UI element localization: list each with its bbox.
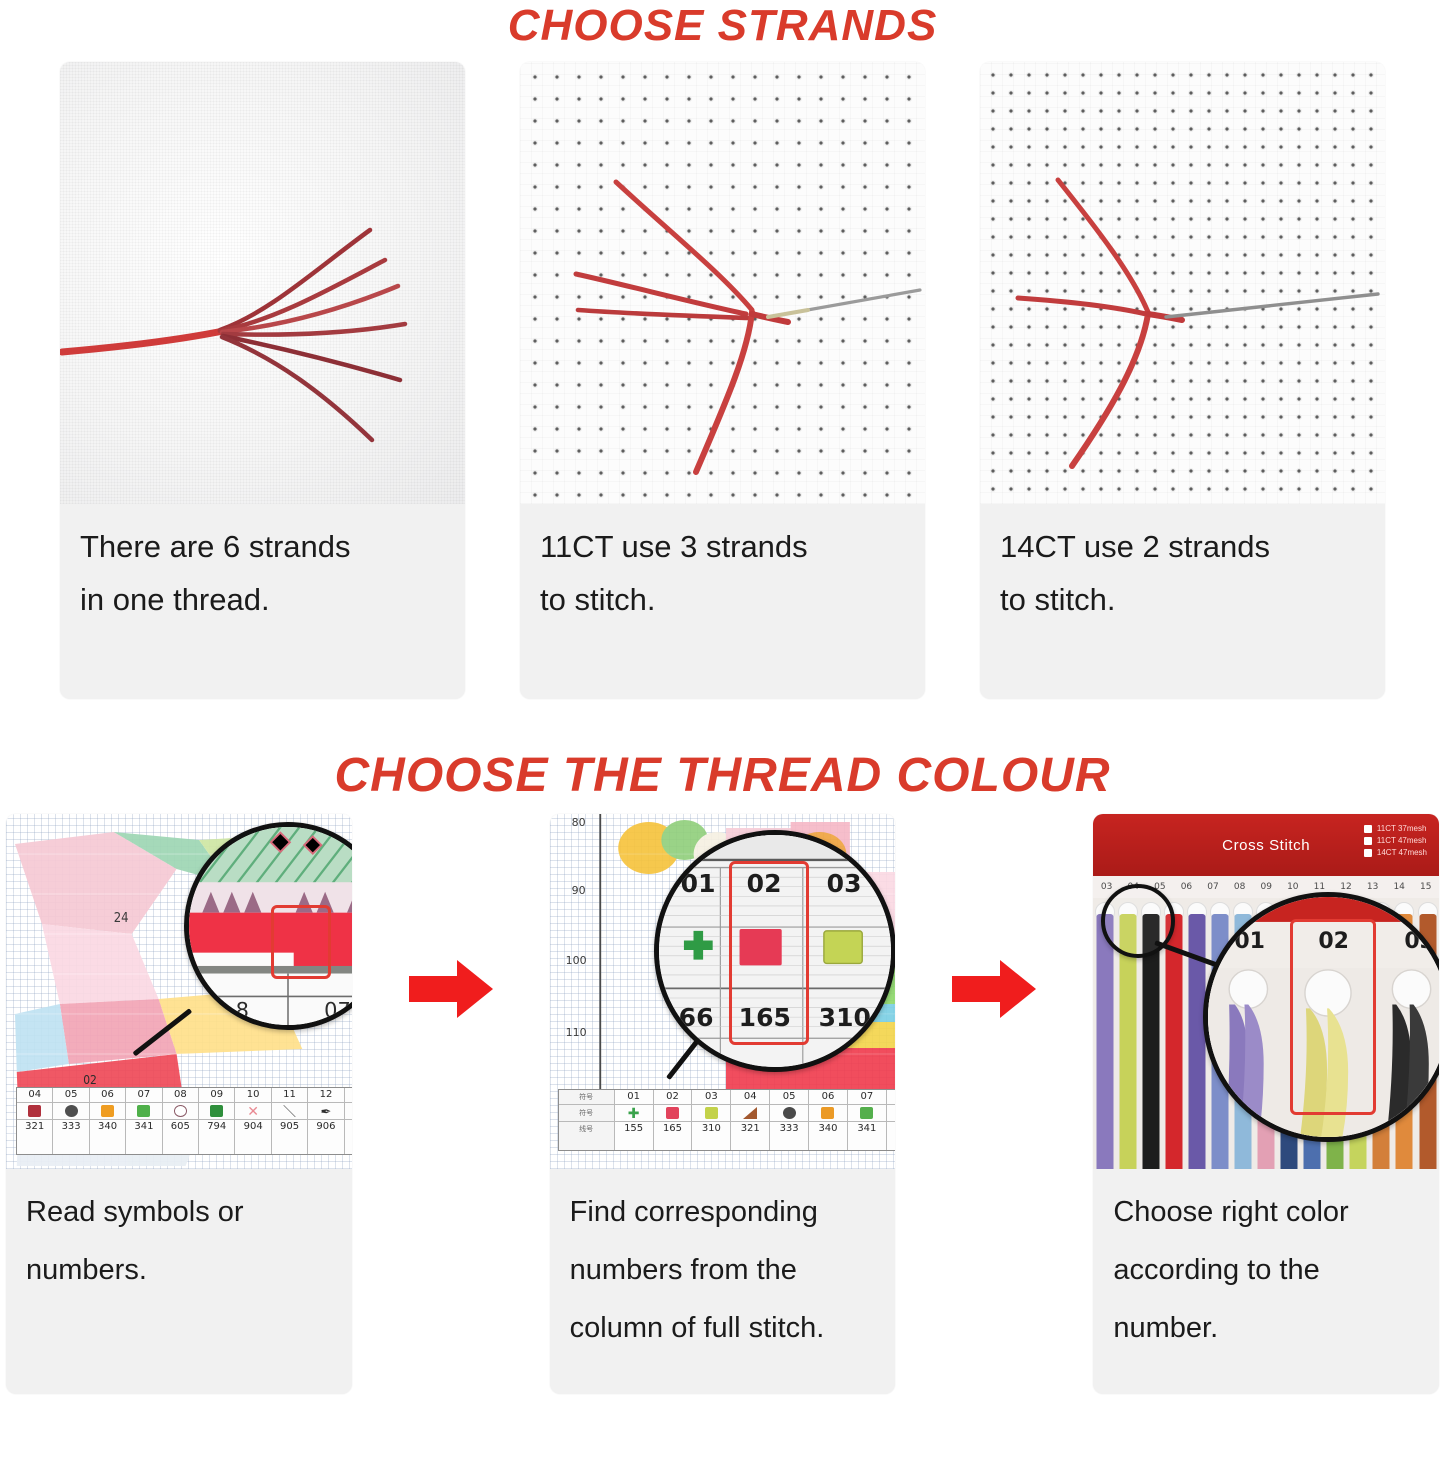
legend-code: 165 xyxy=(654,1121,692,1136)
legend-symbol xyxy=(163,1102,198,1119)
legend-symbol xyxy=(654,1104,692,1121)
checkbox-icon xyxy=(1364,825,1372,833)
six-strands-photo xyxy=(60,62,465,504)
caption-11ct: 11CT use 3 strands to stitch. xyxy=(520,504,925,699)
legend-symbol xyxy=(126,1102,161,1119)
legend-column: 04321 xyxy=(731,1090,770,1150)
legend-symbol xyxy=(848,1104,886,1121)
organizer-number: 14 xyxy=(1386,876,1413,898)
magnifier-highlight-box xyxy=(729,861,809,1045)
card-find-numbers: 80 90 100 110 符号 符号 线号 01✚155 02165 0331… xyxy=(550,814,896,1394)
legend-symbol xyxy=(770,1104,808,1121)
svg-text:02: 02 xyxy=(83,1072,97,1087)
chart-row-label: 90 xyxy=(572,884,586,897)
chart-row-label: 110 xyxy=(566,1026,587,1039)
legend-symbol: ✕ xyxy=(235,1102,270,1119)
checkbox-icon xyxy=(1364,837,1372,845)
organizer-legend-label: 11CT 47mesh xyxy=(1377,836,1427,845)
legend-column: 07341 xyxy=(126,1088,162,1154)
legend-code: 155 xyxy=(615,1121,653,1136)
arrow-1 xyxy=(407,956,495,1022)
organizer-title: Cross Stitch xyxy=(1222,837,1310,854)
caption-line: to stitch. xyxy=(540,573,905,626)
two-strands-needle-illustration xyxy=(980,62,1385,504)
legend-code: 341 xyxy=(126,1119,161,1134)
legend-number: 03 xyxy=(705,1090,718,1104)
svg-text:8: 8 xyxy=(236,998,249,1022)
caption-line: Choose right color xyxy=(1113,1183,1419,1241)
legend-symbol: Λ xyxy=(345,1102,352,1119)
legend-code: 906 xyxy=(308,1119,343,1134)
organizer-number: 09 xyxy=(1253,876,1280,898)
legend-code: 904 xyxy=(235,1119,270,1134)
right-arrow-icon xyxy=(950,956,1038,1022)
caption-line: 14CT use 2 strands xyxy=(1000,520,1365,573)
eleven-count-aida-photo xyxy=(520,62,925,504)
legend-column: 04321 xyxy=(17,1088,53,1154)
caption-find-numbers: Find corresponding numbers from the colu… xyxy=(550,1169,896,1394)
legend-column: 13Λ907 xyxy=(345,1088,352,1154)
legend-symbol xyxy=(887,1104,896,1121)
legend-number: 08 xyxy=(174,1088,187,1102)
legend-number: 04 xyxy=(28,1088,41,1102)
legend-number: 09 xyxy=(210,1088,223,1102)
legend-code: 321 xyxy=(17,1119,52,1134)
legend-symbol: ✚ xyxy=(615,1104,653,1121)
checkbox-icon xyxy=(1364,849,1372,857)
choose-strands-card-row: There are 6 strands in one thread. 11CT … xyxy=(0,62,1445,722)
caption-line: There are 6 strands xyxy=(80,520,445,573)
legend-number: 02 xyxy=(666,1090,679,1104)
legend-number: 12 xyxy=(320,1088,333,1102)
legend-code: 905 xyxy=(272,1119,307,1134)
svg-text:24: 24 xyxy=(114,910,129,925)
legend-column: 05333 xyxy=(53,1088,89,1154)
legend-number: 05 xyxy=(783,1090,796,1104)
legend-column: 07341 xyxy=(848,1090,887,1150)
legend-column: 03310 xyxy=(692,1090,731,1150)
legend-column: 01✚155 xyxy=(615,1090,654,1150)
legend-symbol: ＼ xyxy=(272,1102,307,1119)
magnifier-highlight-box xyxy=(271,905,331,979)
organizer-magnifier: 01 02 03 xyxy=(1203,892,1439,1142)
legend-number: 07 xyxy=(860,1090,873,1104)
pattern-symbols-photo: 24 02 04321 05333 06340 07341 08605 0979… xyxy=(6,814,352,1169)
magnifier-column-label: 03 xyxy=(1404,929,1435,954)
legend-symbol xyxy=(692,1104,730,1121)
numbers-legend-table: 符号 符号 线号 01✚155 02165 03310 04321 05333 … xyxy=(558,1089,896,1151)
card-six-strands: There are 6 strands in one thread. xyxy=(60,62,465,699)
legend-number: 04 xyxy=(744,1090,757,1104)
legend-symbol xyxy=(199,1102,234,1119)
chart-row-label: 80 xyxy=(572,816,586,829)
caption-line: according to the xyxy=(1113,1241,1419,1299)
legend-number: 11 xyxy=(283,1088,296,1102)
legend-code: 310 xyxy=(692,1121,730,1136)
legend-code: 333 xyxy=(770,1121,808,1136)
caption-line: Find corresponding xyxy=(570,1183,876,1241)
legend-number: 05 xyxy=(65,1088,78,1102)
legend-code: 340 xyxy=(809,1121,847,1136)
right-arrow-icon xyxy=(407,956,495,1022)
caption-line: number. xyxy=(1113,1299,1419,1357)
choose-thread-colour-card-row: 24 02 04321 05333 06340 07341 08605 0979… xyxy=(0,814,1445,1409)
organizer-number: 15 xyxy=(1412,876,1439,898)
organizer-legend: 11CT 37mesh 11CT 47mesh 14CT 47mesh xyxy=(1364,824,1427,857)
legend-number: 06 xyxy=(822,1090,835,1104)
legend-code: 605 xyxy=(887,1121,896,1136)
card-11ct-three-strands: 11CT use 3 strands to stitch. xyxy=(520,62,925,699)
legend-code: 907 xyxy=(345,1119,352,1134)
symbols-legend-table: 04321 05333 06340 07341 08605 09794 10✕9… xyxy=(16,1087,352,1155)
legend-number: 06 xyxy=(101,1088,114,1102)
caption-line: column of full stitch. xyxy=(570,1299,876,1357)
legend-column: 02165 xyxy=(654,1090,693,1150)
legend-number: 01 xyxy=(627,1090,640,1104)
symbols-magnifier: 8 07 xyxy=(184,822,352,1030)
caption-line: 11CT use 3 strands xyxy=(540,520,905,573)
caption-line: numbers from the xyxy=(570,1241,876,1299)
legend-column: 09794 xyxy=(199,1088,235,1154)
legend-code: 333 xyxy=(53,1119,88,1134)
arrow-2 xyxy=(950,956,1038,1022)
caption-line: Read symbols or xyxy=(26,1183,332,1241)
legend-column: 08605 xyxy=(163,1088,199,1154)
magnifier-code-label: 310 xyxy=(819,1003,871,1032)
three-strands-needle-illustration xyxy=(520,62,925,504)
pattern-numbers-photo: 80 90 100 110 符号 符号 线号 01✚155 02165 0331… xyxy=(550,814,896,1169)
choose-strands-heading: CHOOSE STRANDS xyxy=(0,0,1445,62)
magnifier-column-label: 03 xyxy=(827,869,862,898)
organizer-number: 08 xyxy=(1226,876,1253,898)
thread-organizer-photo: Cross Stitch 11CT 37mesh 11CT 47mesh 14C… xyxy=(1093,814,1439,1169)
caption-choose-color: Choose right color according to the numb… xyxy=(1093,1169,1439,1394)
organizer-legend-label: 14CT 47mesh xyxy=(1377,848,1427,857)
legend-code: 794 xyxy=(199,1119,234,1134)
legend-column: 06340 xyxy=(90,1088,126,1154)
caption-line: in one thread. xyxy=(80,573,445,626)
legend-code: 605 xyxy=(163,1119,198,1134)
chart-row-label: 100 xyxy=(566,954,587,967)
legend-symbol xyxy=(17,1102,52,1119)
magnifier-column-label: 01 xyxy=(681,869,716,898)
svg-text:07: 07 xyxy=(324,998,351,1022)
legend-code: 340 xyxy=(90,1119,125,1134)
choose-thread-colour-heading: CHOOSE THE THREAD COLOUR xyxy=(0,722,1445,814)
six-strands-illustration xyxy=(60,62,465,504)
legend-header-column: 符号 符号 线号 xyxy=(559,1090,615,1150)
card-read-symbols: 24 02 04321 05333 06340 07341 08605 0979… xyxy=(6,814,352,1394)
legend-column: 11＼905 xyxy=(272,1088,308,1154)
legend-code: 321 xyxy=(731,1121,769,1136)
card-14ct-two-strands: 14CT use 2 strands to stitch. xyxy=(980,62,1385,699)
legend-column: 08605 xyxy=(887,1090,896,1150)
legend-code: 341 xyxy=(848,1121,886,1136)
organizer-number: 06 xyxy=(1173,876,1200,898)
legend-symbol xyxy=(90,1102,125,1119)
caption-line: numbers. xyxy=(26,1241,332,1299)
organizer-number: 13 xyxy=(1359,876,1386,898)
legend-column: 05333 xyxy=(770,1090,809,1150)
caption-six-strands: There are 6 strands in one thread. xyxy=(60,504,465,699)
organizer-header: Cross Stitch 11CT 37mesh 11CT 47mesh 14C… xyxy=(1093,814,1439,876)
legend-column: 06340 xyxy=(809,1090,848,1150)
legend-number: 10 xyxy=(247,1088,260,1102)
fourteen-count-aida-photo xyxy=(980,62,1385,504)
magnifier-highlight-box xyxy=(1290,919,1376,1115)
caption-line: to stitch. xyxy=(1000,573,1365,626)
magnifier-code-label: 66 xyxy=(679,1003,714,1032)
legend-column: 10✕904 xyxy=(235,1088,271,1154)
numbers-magnifier: 01 02 03 66 165 310 xyxy=(654,830,896,1072)
organizer-legend-row: 11CT 37mesh xyxy=(1364,824,1427,833)
organizer-legend-row: 14CT 47mesh xyxy=(1364,848,1427,857)
magnifier-column-label: 01 xyxy=(1234,929,1265,954)
legend-column: 12✒906 xyxy=(308,1088,344,1154)
legend-symbol: ✒ xyxy=(308,1102,343,1119)
organizer-number: 07 xyxy=(1200,876,1227,898)
legend-symbol xyxy=(731,1104,769,1121)
caption-read-symbols: Read symbols or numbers. xyxy=(6,1169,352,1394)
legend-symbol xyxy=(53,1102,88,1119)
organizer-legend-row: 11CT 47mesh xyxy=(1364,836,1427,845)
organizer-legend-label: 11CT 37mesh xyxy=(1377,824,1427,833)
card-choose-color: Cross Stitch 11CT 37mesh 11CT 47mesh 14C… xyxy=(1093,814,1439,1394)
legend-number: 07 xyxy=(138,1088,151,1102)
caption-14ct: 14CT use 2 strands to stitch. xyxy=(980,504,1385,699)
legend-symbol xyxy=(809,1104,847,1121)
